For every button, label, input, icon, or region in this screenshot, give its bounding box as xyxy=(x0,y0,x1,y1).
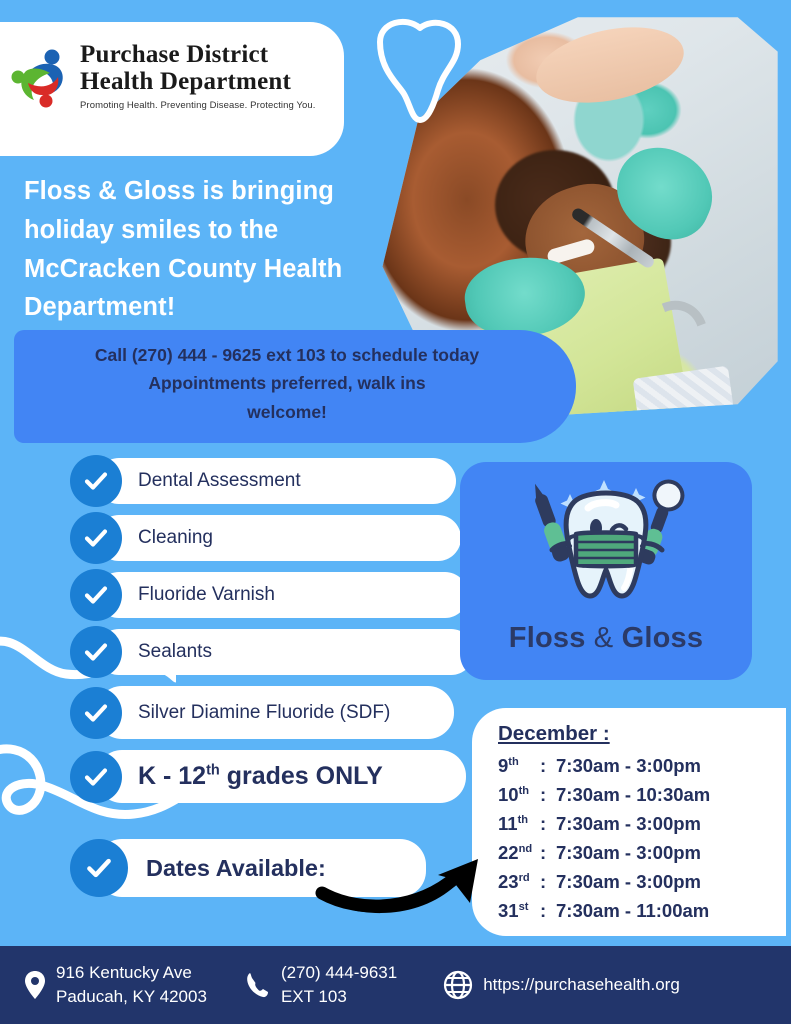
schedule-separator: : xyxy=(540,751,556,780)
checklist-item-grades[interactable]: K - 12th grades ONLY xyxy=(70,750,390,803)
schedule-separator: : xyxy=(540,780,556,809)
checklist-label: Cleaning xyxy=(138,526,213,550)
grades-text-suffix: grades ONLY xyxy=(220,762,383,790)
schedule-row: 22nd : 7:30am - 3:00pm xyxy=(498,838,786,867)
tooth-outline-icon xyxy=(358,8,488,138)
checklist-label: Sealants xyxy=(138,640,212,664)
check-icon xyxy=(70,839,128,897)
poster-root: Purchase District Health Department Prom… xyxy=(0,0,791,1024)
brand-title-b: Gloss xyxy=(613,622,703,654)
footer-phone[interactable]: (270) 444-9631 EXT 103 xyxy=(245,961,397,1009)
tooth-mascot-with-mask-icon xyxy=(508,472,704,622)
schedule-time: 7:30am - 3:00pm xyxy=(556,838,701,867)
address-line-2: Paducah, KY 42003 xyxy=(56,985,207,1009)
checklist-item-silver-diamine-fluoride[interactable]: Silver Diamine Fluoride (SDF) xyxy=(70,686,390,739)
logo-row: Purchase District Health Department Prom… xyxy=(8,42,316,111)
schedule-time: 7:30am - 3:00pm xyxy=(556,809,701,838)
schedule-day: 23rd xyxy=(498,867,540,896)
phone-lines: (270) 444-9631 EXT 103 xyxy=(281,961,397,1009)
address-line-1: 916 Kentucky Ave xyxy=(56,961,207,985)
check-icon xyxy=(70,751,122,803)
address-lines: 916 Kentucky Ave Paducah, KY 42003 xyxy=(56,961,207,1009)
schedule-day: 10th xyxy=(498,780,540,809)
photo-arm xyxy=(529,15,690,115)
dates-available-label: Dates Available: xyxy=(146,855,326,882)
cta-line-2: Appointments preferred, walk ins xyxy=(28,369,546,397)
schedule-row: 10th : 7:30am - 10:30am xyxy=(498,780,786,809)
services-checklist: Dental Assessment Cleaning Fluoride Varn… xyxy=(70,458,390,897)
schedule-time: 7:30am - 10:30am xyxy=(556,780,710,809)
schedule-heading: December : xyxy=(498,722,786,746)
logo-line-2: Health Department xyxy=(80,69,316,96)
schedule-separator: : xyxy=(540,867,556,896)
map-pin-icon xyxy=(24,970,46,1000)
phone-line-2: EXT 103 xyxy=(281,985,397,1009)
website-url: https://purchasehealth.org xyxy=(483,975,680,995)
grades-text-prefix: K - 12 xyxy=(138,762,206,790)
schedule-row: 23rd : 7:30am - 3:00pm xyxy=(498,867,786,896)
checklist-label: Fluoride Varnish xyxy=(138,583,275,607)
schedule-row: 31st : 7:30am - 11:00am xyxy=(498,896,786,925)
grades-ordinal-suffix: th xyxy=(206,763,220,779)
curved-arrow-icon xyxy=(310,845,490,923)
checklist-label-grades: K - 12th grades ONLY xyxy=(138,761,383,792)
headline: Floss & Gloss is bringing holiday smiles… xyxy=(24,172,384,327)
schedule-row: 9th : 7:30am - 3:00pm xyxy=(498,751,786,780)
check-icon xyxy=(70,455,122,507)
brand-title-amp: & xyxy=(594,622,614,654)
schedule-time: 7:30am - 3:00pm xyxy=(556,867,701,896)
floss-and-gloss-brand-card: Floss & Gloss xyxy=(460,462,752,680)
phone-line-1: (270) 444-9631 xyxy=(281,961,397,985)
brand-title: Floss & Gloss xyxy=(509,622,703,655)
brand-title-a: Floss xyxy=(509,622,594,654)
footer-address: 916 Kentucky Ave Paducah, KY 42003 xyxy=(24,961,207,1009)
check-icon xyxy=(70,569,122,621)
checklist-item-dental-assessment[interactable]: Dental Assessment xyxy=(70,458,390,504)
schedule-day: 11th xyxy=(498,809,540,838)
schedule-row: 11th : 7:30am - 3:00pm xyxy=(498,809,786,838)
cta-line-3: welcome! xyxy=(28,398,546,426)
schedule-time: 7:30am - 11:00am xyxy=(556,896,709,925)
schedule-day: 22nd xyxy=(498,838,540,867)
header-logo-card: Purchase District Health Department Prom… xyxy=(0,22,344,156)
footer-contact-bar: 916 Kentucky Ave Paducah, KY 42003 (270)… xyxy=(0,946,791,1024)
check-icon xyxy=(70,687,122,739)
check-icon xyxy=(70,512,122,564)
globe-icon xyxy=(443,970,473,1000)
checklist-item-sealants[interactable]: Sealants xyxy=(70,629,390,675)
check-icon xyxy=(70,626,122,678)
schedule-separator: : xyxy=(540,809,556,838)
logo-tagline: Promoting Health. Preventing Disease. Pr… xyxy=(80,100,316,111)
schedule-time: 7:30am - 3:00pm xyxy=(556,751,701,780)
schedule-card: December : 9th : 7:30am - 3:00pm 10th : … xyxy=(472,708,786,936)
logo-line-1: Purchase District xyxy=(80,42,316,69)
schedule-day: 9th xyxy=(498,751,540,780)
cta-line-1: Call (270) 444 - 9625 ext 103 to schedul… xyxy=(28,341,546,369)
checklist-label: Silver Diamine Fluoride (SDF) xyxy=(138,701,390,725)
schedule-separator: : xyxy=(540,838,556,867)
logo-text: Purchase District Health Department Prom… xyxy=(80,42,316,111)
checklist-item-fluoride-varnish[interactable]: Fluoride Varnish xyxy=(70,572,390,618)
footer-website[interactable]: https://purchasehealth.org xyxy=(443,970,680,1000)
phone-icon xyxy=(245,971,271,999)
call-to-action-banner: Call (270) 444 - 9625 ext 103 to schedul… xyxy=(14,330,576,443)
three-person-swirl-logo-icon xyxy=(8,43,70,109)
schedule-day: 31st xyxy=(498,896,540,925)
checklist-label: Dental Assessment xyxy=(138,469,301,493)
checklist-item-cleaning[interactable]: Cleaning xyxy=(70,515,390,561)
schedule-separator: : xyxy=(540,896,556,925)
